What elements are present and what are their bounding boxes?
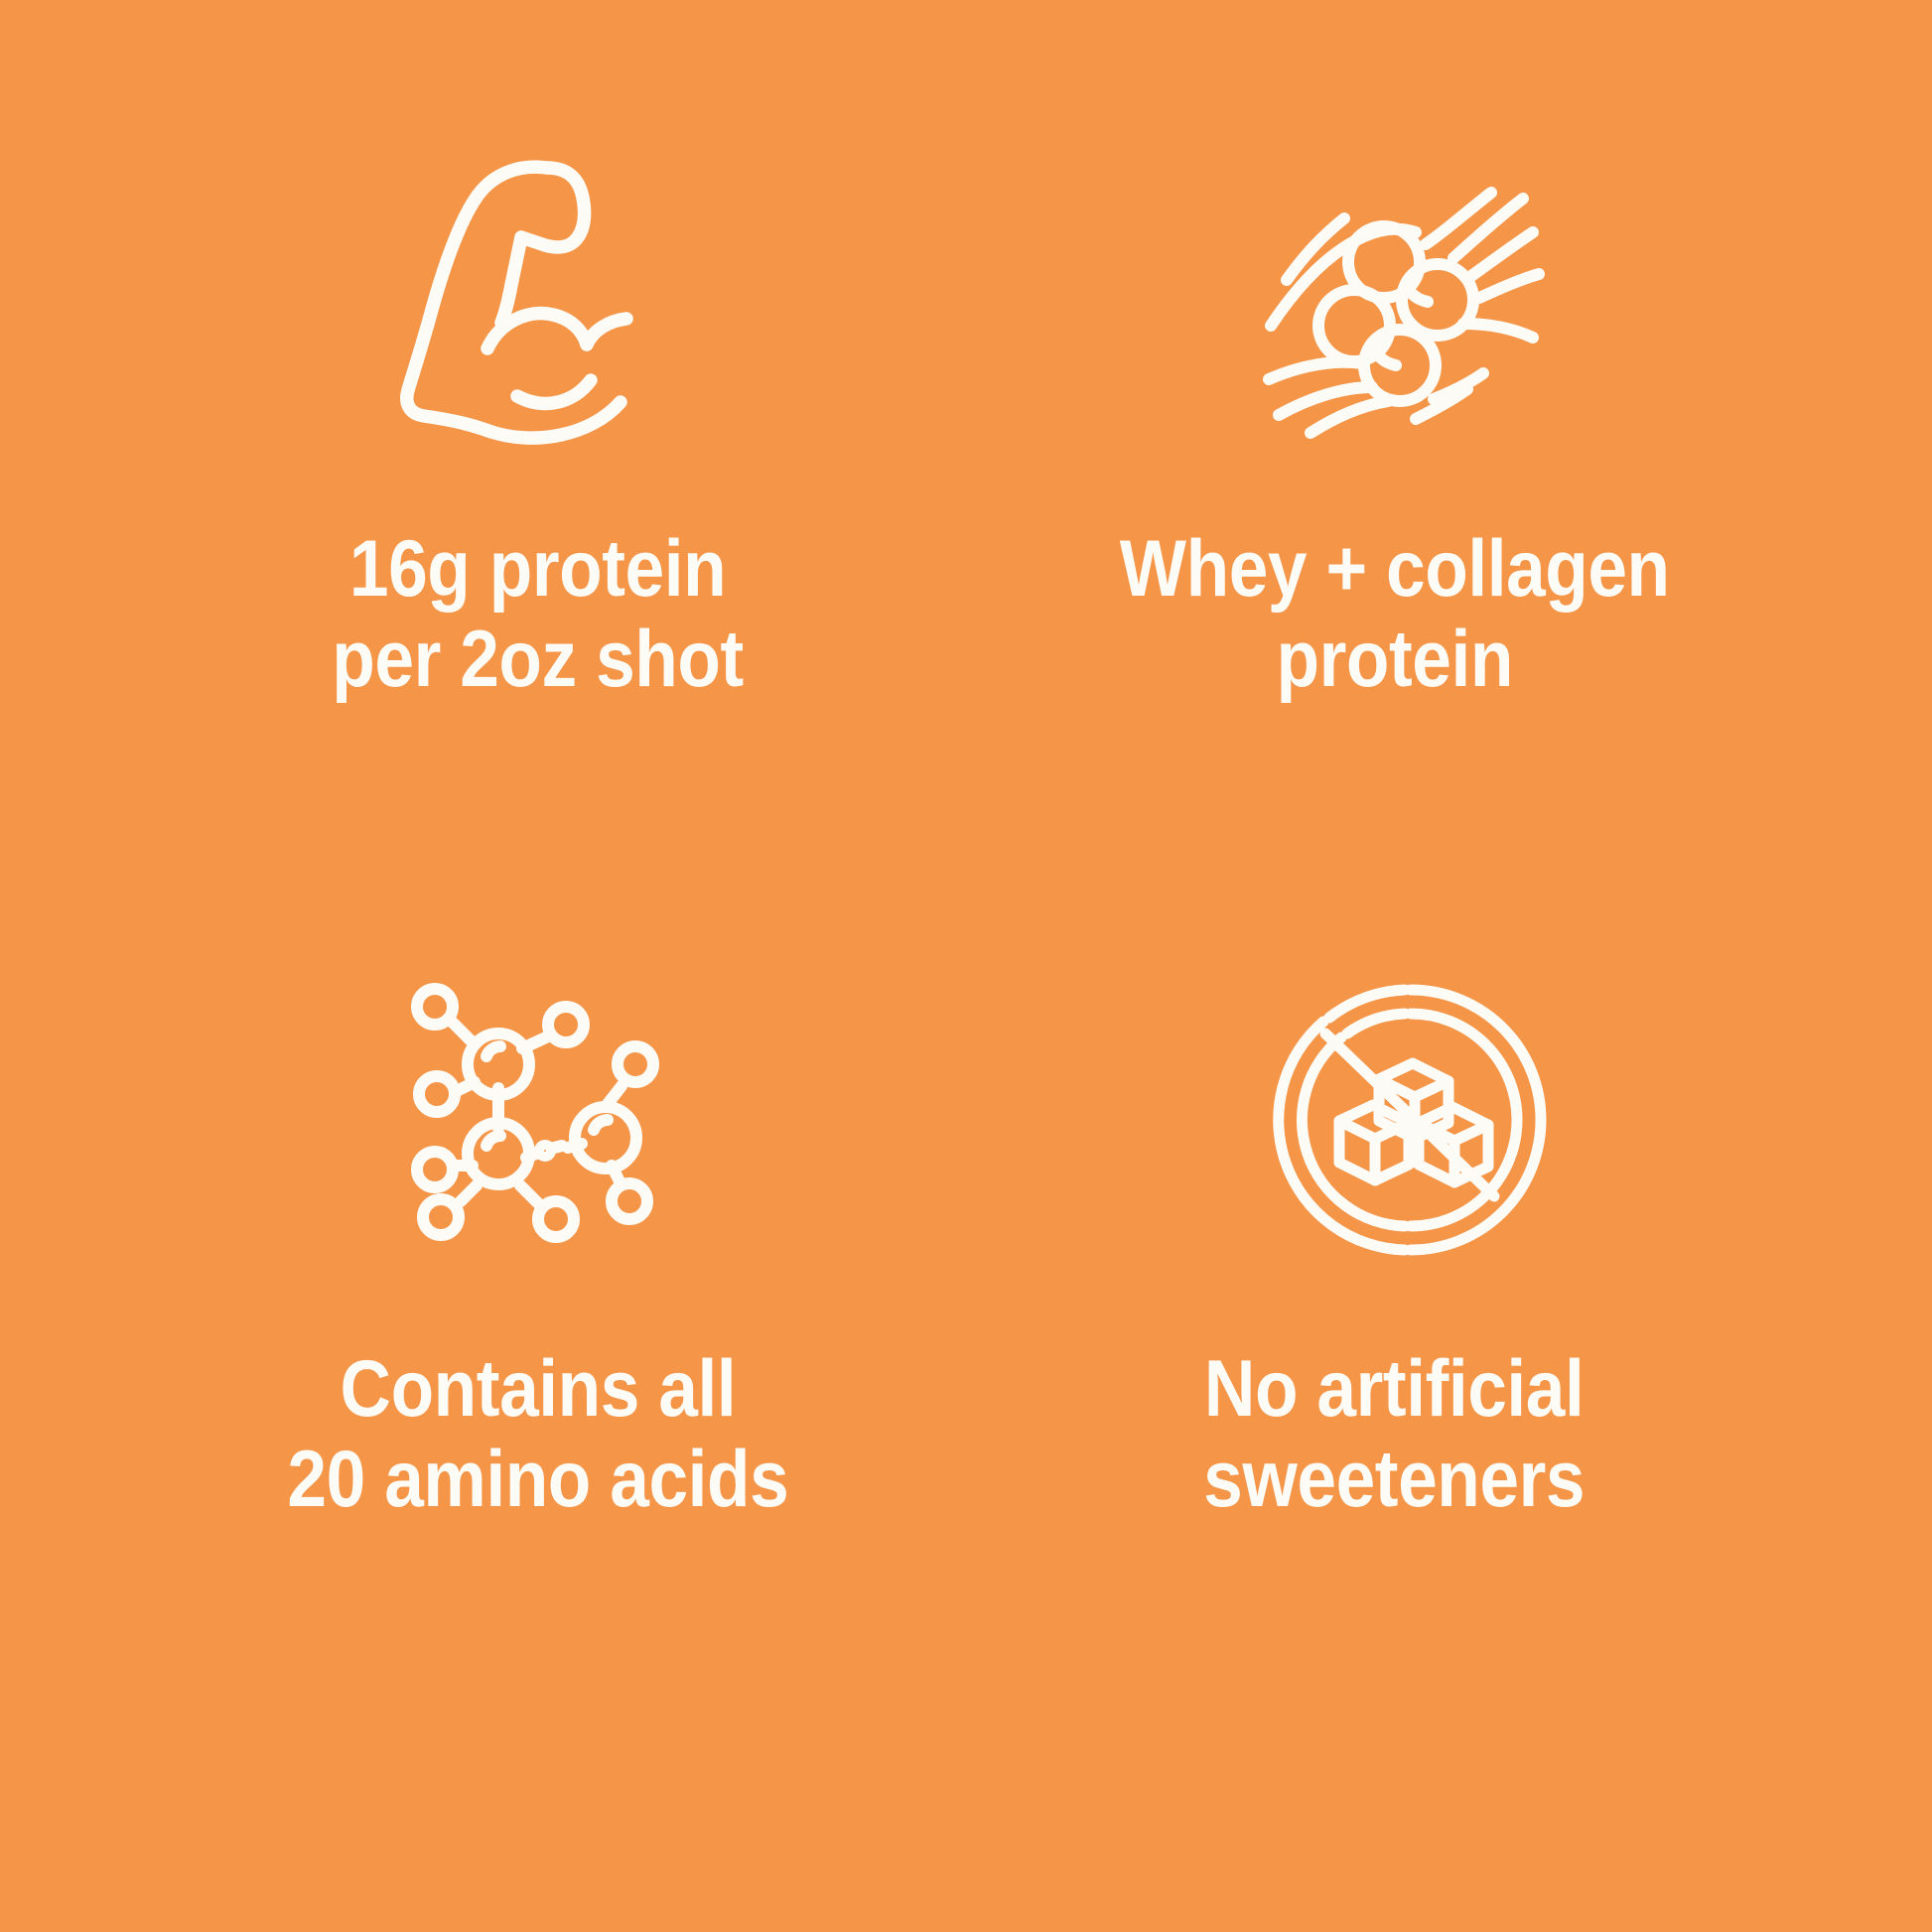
benefit-card-no-sweeteners: No artificial sweeteners: [976, 971, 1813, 1783]
benefit-label-no-sweeteners: No artificial sweeteners: [1204, 1344, 1586, 1524]
benefit-label-protein-amount: 16g protein per 2oz shot: [332, 524, 744, 704]
benefit-card-amino-acids: Contains all 20 amino acids: [119, 971, 956, 1783]
benefit-label-protein-source: Whey + collagen protein: [1120, 524, 1670, 704]
benefit-label-amino-acids: Contains all 20 amino acids: [287, 1344, 788, 1524]
protein-fibers-molecule-icon: [1259, 149, 1557, 447]
benefit-card-protein-source: Whey + collagen protein: [976, 149, 1813, 961]
no-sugar-cubes-icon: [1264, 971, 1552, 1269]
benefit-card-protein-amount: 16g protein per 2oz shot: [119, 149, 956, 961]
benefits-grid: 16g protein per 2oz shot: [0, 0, 1932, 1932]
amino-acid-molecule-icon: [391, 971, 679, 1269]
flexed-bicep-icon: [396, 149, 694, 447]
